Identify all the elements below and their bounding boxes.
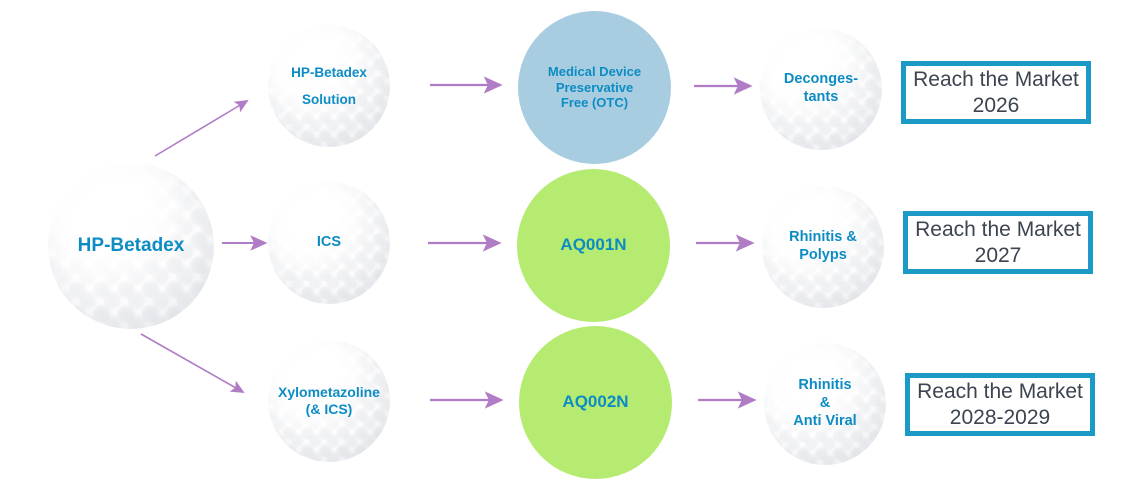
ring-row1-blue <box>518 11 671 164</box>
golf-ball-graphic <box>48 163 214 329</box>
node-row2-indication[interactable]: Rhinitis & Polyps <box>762 186 884 308</box>
market-box-row2[interactable]: Reach the Market 2027 <box>903 211 1093 274</box>
ring-row2-green <box>517 169 670 322</box>
node-row2-formulation[interactable]: ICS <box>268 182 390 304</box>
node-row1-formulation[interactable]: HP-Betadex Solution <box>268 25 390 147</box>
golf-ball-graphic <box>764 343 886 465</box>
node-source-hp-betadex[interactable]: HP-Betadex <box>48 163 214 329</box>
golf-ball-graphic <box>268 182 390 304</box>
arrow-source-to-row1 <box>155 101 247 156</box>
golf-ball-graphic <box>268 25 390 147</box>
market-box-row3[interactable]: Reach the Market 2028-2029 <box>905 373 1095 436</box>
golf-ball-graphic <box>268 340 390 462</box>
pipeline-diagram: HP-Betadex HP-Betadex Solution Medical D… <box>0 0 1132 495</box>
golf-ball-graphic <box>760 28 882 150</box>
golf-ball-graphic <box>762 186 884 308</box>
ring-row3-green <box>519 326 672 479</box>
market-box-row1[interactable]: Reach the Market 2026 <box>901 61 1091 124</box>
node-row1-indication[interactable]: Deconges- tants <box>760 28 882 150</box>
arrow-source-to-row3 <box>141 334 243 392</box>
node-row3-indication[interactable]: Rhinitis & Anti Viral <box>764 343 886 465</box>
market-box-row3-label: Reach the Market 2028-2029 <box>917 379 1083 430</box>
market-box-row1-label: Reach the Market 2026 <box>913 67 1079 118</box>
node-row3-formulation[interactable]: Xylometazoline (& ICS) <box>268 340 390 462</box>
market-box-row2-label: Reach the Market 2027 <box>915 217 1081 268</box>
